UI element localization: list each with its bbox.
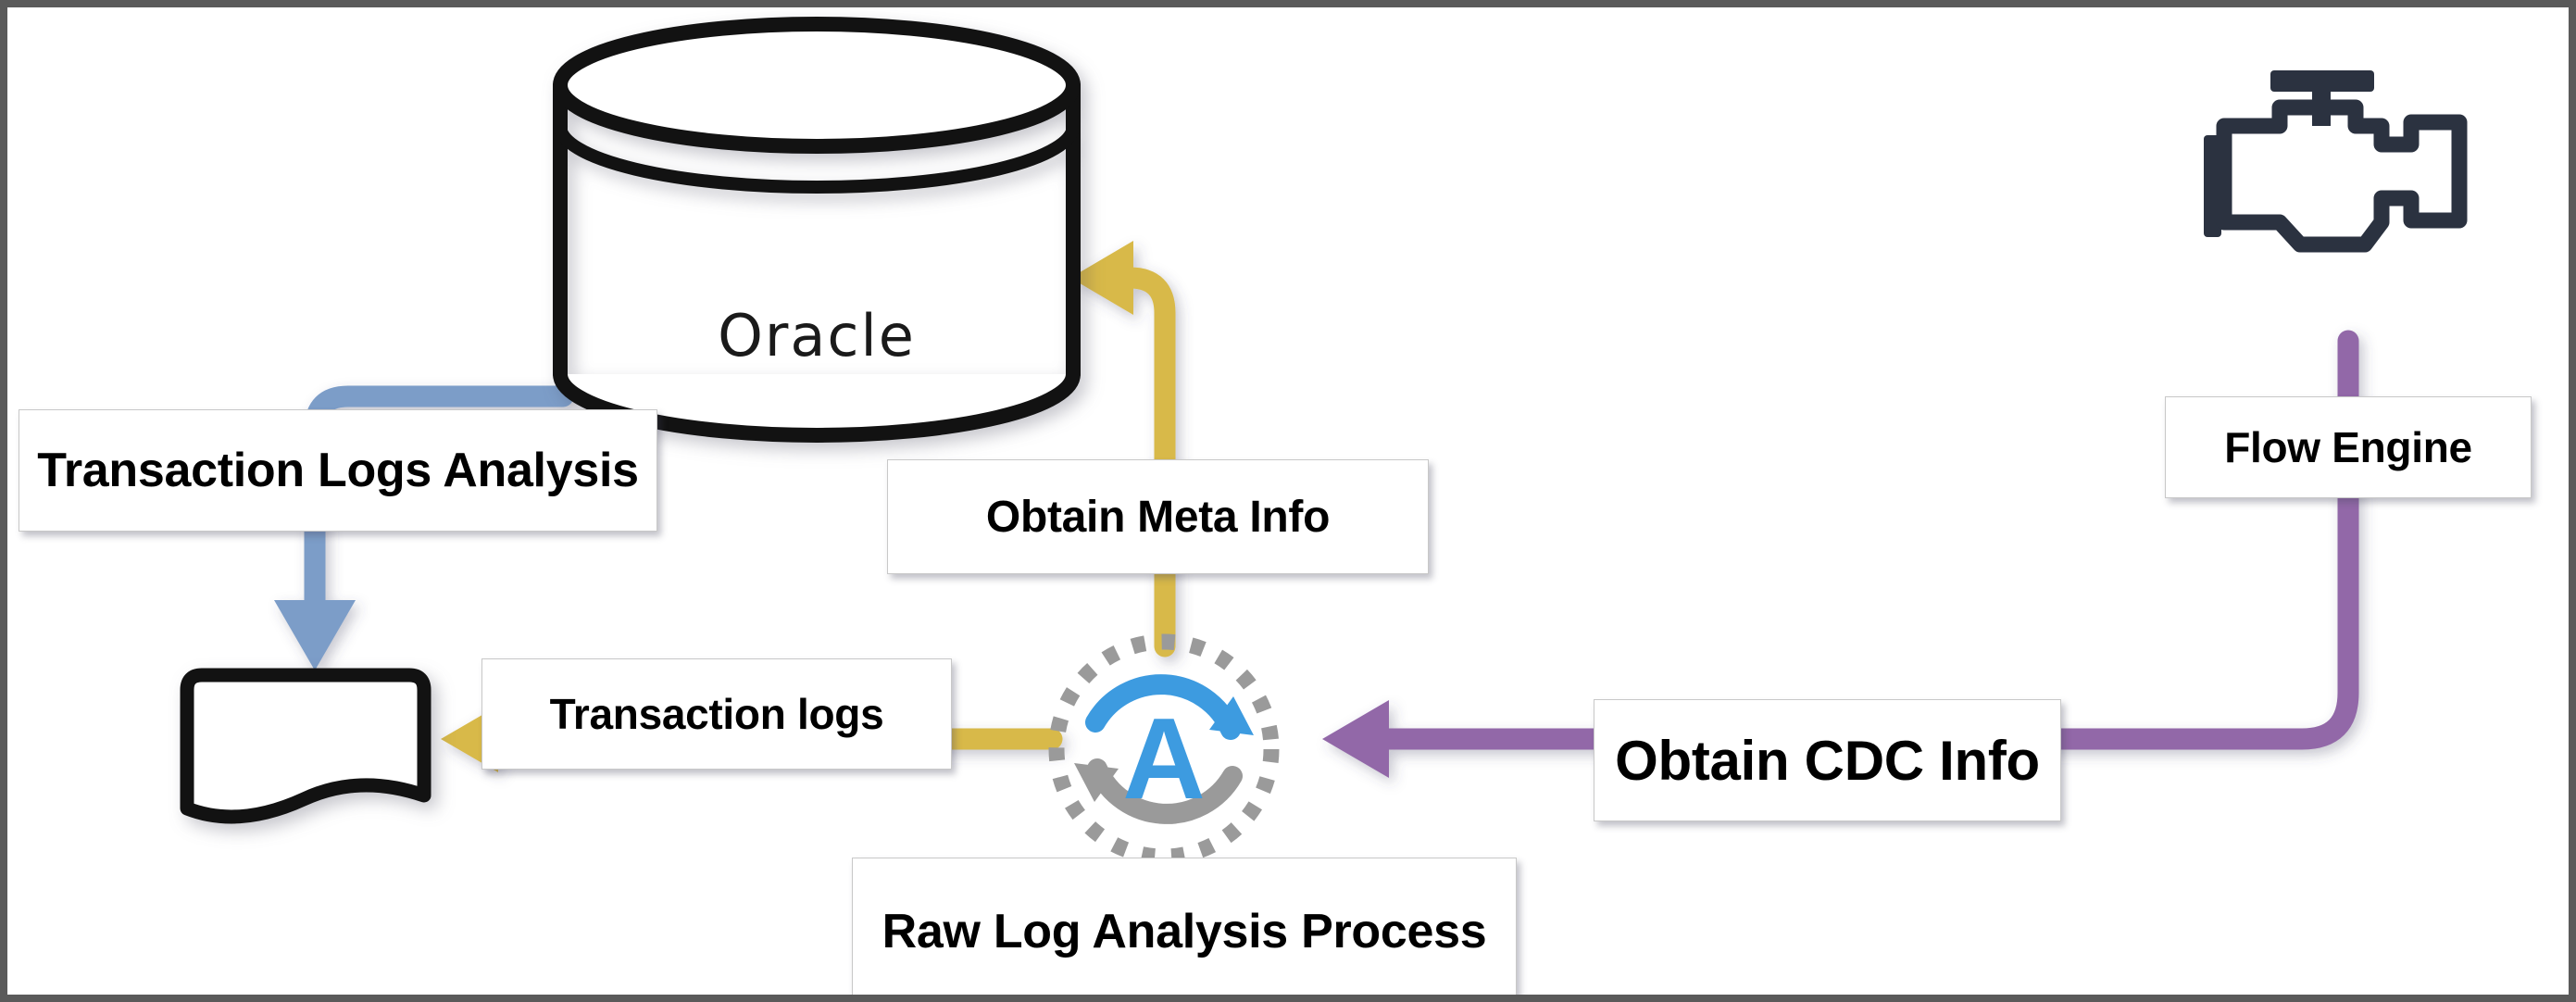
label-raw-log-analysis-process[interactable]: Raw Log Analysis Process: [852, 858, 1517, 1002]
document-node[interactable]: [165, 660, 443, 836]
label-transaction-logs[interactable]: Transaction logs: [481, 658, 952, 770]
diagram-canvas: Oracle A Transaction Logs Analysis Obtai…: [0, 0, 2576, 1002]
raw-log-analysis-process-node[interactable]: A: [1044, 630, 1283, 869]
flow-engine-node[interactable]: [2191, 63, 2496, 341]
engine-icon: [2191, 63, 2496, 341]
refresh-process-icon: A: [1044, 630, 1283, 869]
label-flow-engine[interactable]: Flow Engine: [2165, 396, 2532, 498]
label-obtain-cdc-info[interactable]: Obtain CDC Info: [1594, 699, 2061, 821]
label-transaction-logs-analysis[interactable]: Transaction Logs Analysis: [19, 409, 657, 532]
oracle-database-node[interactable]: Oracle: [547, 15, 1086, 443]
database-label: Oracle: [547, 302, 1086, 369]
database-cylinder-icon: [547, 15, 1086, 443]
process-letter: A: [1122, 695, 1206, 823]
label-obtain-meta-info[interactable]: Obtain Meta Info: [887, 459, 1429, 574]
